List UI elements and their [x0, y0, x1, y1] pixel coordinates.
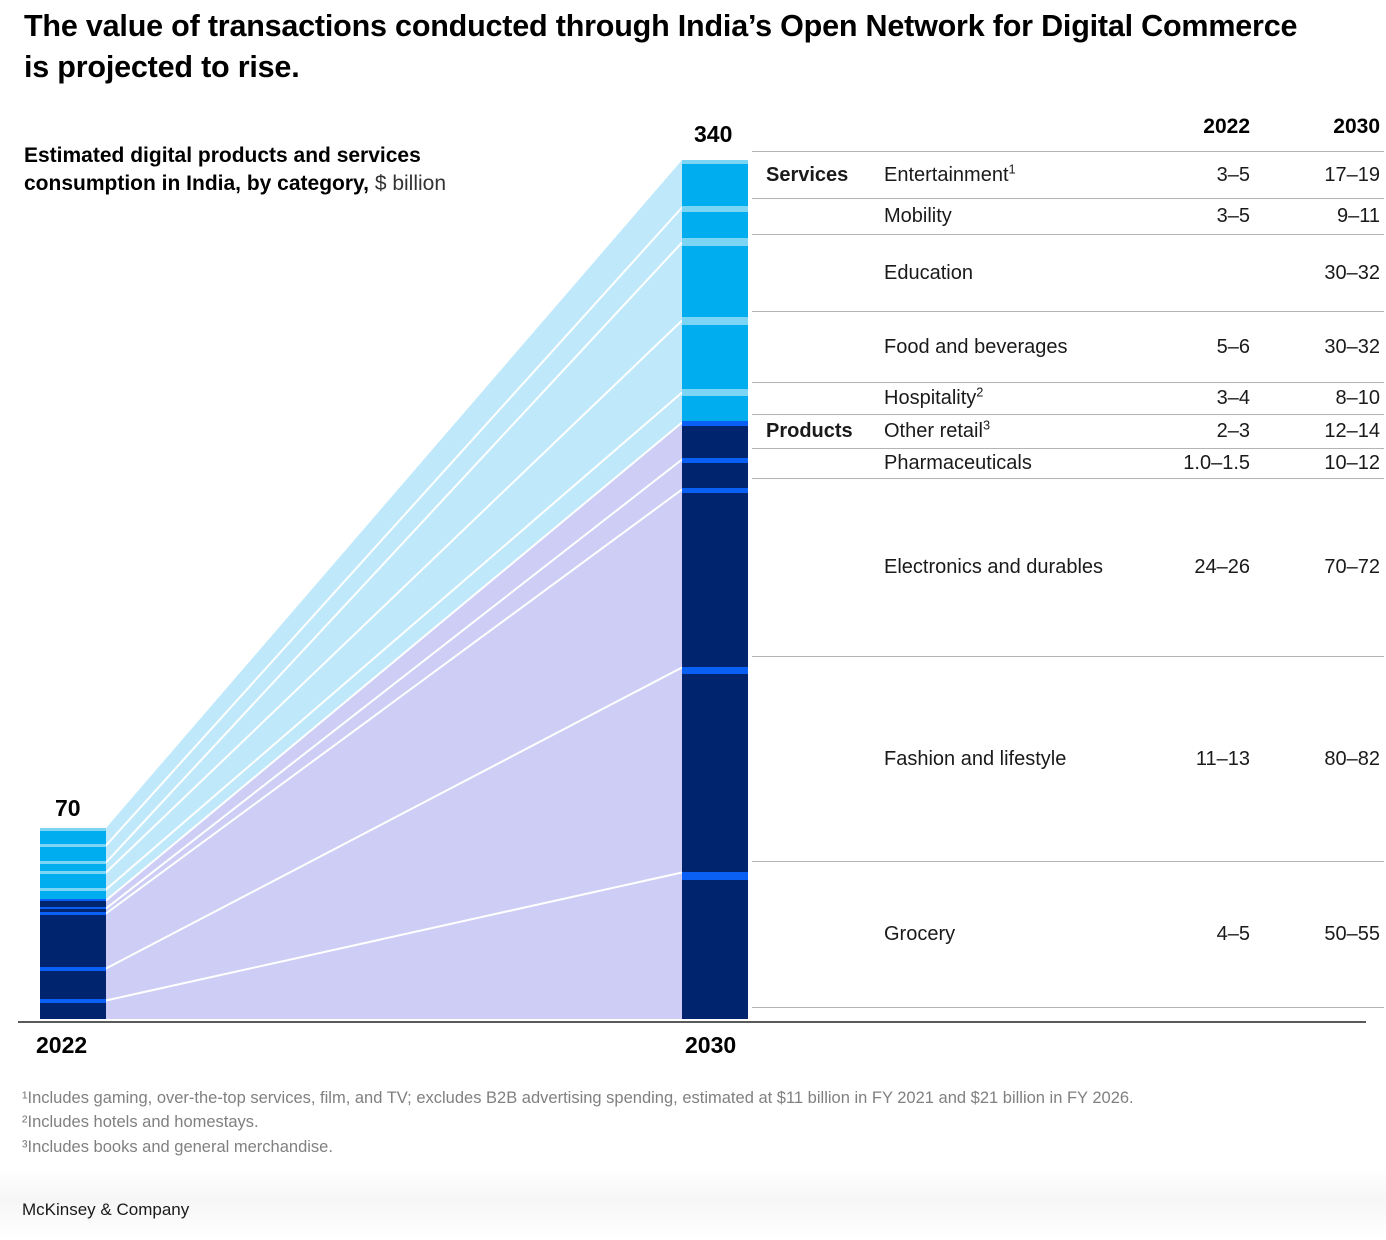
row-value-2030: 17–19	[1250, 152, 1384, 199]
row-value-2022: 4–5	[1120, 862, 1250, 1008]
bar-2022-grocery	[40, 1003, 106, 1019]
ribbon-education	[106, 243, 682, 872]
row-category-text: Hospitality	[884, 387, 976, 409]
category-table: 2022 2030 Services Entertainment1 3–5 17…	[752, 115, 1366, 1008]
row-group: Products	[752, 415, 884, 449]
table-row: Food and beverages 5–6 30–32	[752, 312, 1384, 383]
table-row: Products Other retail3 2–3 12–14	[752, 415, 1384, 449]
bottom-fade	[0, 1168, 1386, 1240]
bar-2030-hospitality	[682, 396, 748, 421]
row-group	[752, 235, 884, 312]
row-value-2022: 3–4	[1120, 383, 1250, 415]
row-category-text: Entertainment	[884, 164, 1009, 186]
chart-subtitle-unit: $ billion	[369, 172, 446, 195]
ribbon-fashion-and-lifestyle	[106, 668, 682, 1000]
header-group	[752, 115, 884, 152]
row-value-2022: 3–5	[1120, 152, 1250, 199]
total-value-2022: 70	[55, 795, 81, 822]
total-value-2030: 340	[694, 121, 732, 148]
brand-logo: McKinsey & Company	[22, 1200, 189, 1220]
table-row: Fashion and lifestyle 11–13 80–82	[752, 657, 1384, 862]
row-group	[752, 862, 884, 1008]
bar-2022-other-retail	[40, 901, 106, 907]
row-category-text: Pharmaceuticals	[884, 452, 1032, 474]
footnote-2: ²Includes hotels and homestays.	[22, 1110, 1362, 1134]
row-value-2022: 11–13	[1120, 657, 1250, 862]
row-value-2030: 70–72	[1250, 479, 1384, 657]
row-value-2022: 2–3	[1120, 415, 1250, 449]
bar-2022-electronics-durables	[40, 915, 106, 967]
row-category: Mobility	[884, 199, 1120, 235]
row-value-2022: 24–26	[1120, 479, 1250, 657]
row-category: Grocery	[884, 862, 1120, 1008]
bar-2030-pharmaceuticals	[682, 463, 748, 488]
row-group	[752, 449, 884, 479]
ribbon-pharmaceuticals	[106, 460, 682, 913]
footnote-3: ³Includes books and general merchandise.	[22, 1135, 1362, 1159]
row-category-text: Electronics and durables	[884, 556, 1103, 578]
table-row: Mobility 3–5 9–11	[752, 199, 1384, 235]
ribbon-group-services	[106, 160, 682, 900]
bar-2030-electronics-durables	[682, 493, 748, 667]
row-category: Fashion and lifestyle	[884, 657, 1120, 862]
bar-2030-fashion-lifestyle	[682, 674, 748, 872]
ribbon-entertainment	[106, 160, 682, 845]
row-category: Hospitality2	[884, 383, 1120, 415]
ribbon-electronics-and-durables	[106, 490, 682, 968]
bar-2030-grocery	[682, 880, 748, 1019]
row-category: Education	[884, 235, 1120, 312]
row-category-text: Other retail	[884, 420, 983, 442]
table-header-row: 2022 2030	[752, 115, 1384, 152]
row-value-2030: 12–14	[1250, 415, 1384, 449]
bar-2022-fashion-lifestyle	[40, 971, 106, 999]
bar-2030-entertainment	[682, 164, 748, 206]
row-value-2030: 80–82	[1250, 657, 1384, 862]
row-category-text: Mobility	[884, 205, 952, 227]
header-2030: 2030	[1250, 115, 1384, 152]
row-value-2030: 50–55	[1250, 862, 1384, 1008]
ribbon-mobility	[106, 208, 682, 862]
row-category-text: Fashion and lifestyle	[884, 748, 1066, 770]
row-group	[752, 383, 884, 415]
row-category: Entertainment1	[884, 152, 1120, 199]
row-value-2022	[1120, 235, 1250, 312]
bar-2030-education	[682, 246, 748, 317]
table-row: Education 30–32	[752, 235, 1384, 312]
ribbon-other-retail	[106, 423, 682, 908]
row-category: Electronics and durables	[884, 479, 1120, 657]
row-category-text: Food and beverages	[884, 336, 1067, 358]
row-value-2030: 30–32	[1250, 235, 1384, 312]
bar-2022-hospitality	[40, 891, 106, 899]
footnotes: ¹Includes gaming, over-the-top services,…	[22, 1086, 1362, 1159]
footnote-ref: 1	[1009, 161, 1016, 176]
table-row: Pharmaceuticals 1.0–1.5 10–12	[752, 449, 1384, 479]
row-group	[752, 312, 884, 383]
table-row: Hospitality2 3–4 8–10	[752, 383, 1384, 415]
table-row: Services Entertainment1 3–5 17–19	[752, 152, 1384, 199]
axis-baseline	[18, 1021, 1366, 1023]
row-value-2022: 1.0–1.5	[1120, 449, 1250, 479]
axis-label-2022: 2022	[36, 1032, 87, 1059]
ribbon-hospitality	[106, 393, 682, 900]
row-value-2022: 5–6	[1120, 312, 1250, 383]
chart-subtitle-bold: Estimated digital products and services …	[24, 144, 421, 195]
ribbon-grocery	[106, 873, 682, 1019]
header-2022: 2022	[1120, 115, 1250, 152]
bar-2030-other-retail	[682, 426, 748, 458]
table-row: Electronics and durables 24–26 70–72	[752, 479, 1384, 657]
page-title: The value of transactions conducted thro…	[24, 6, 1314, 88]
row-group: Services	[752, 152, 884, 199]
row-value-2030: 9–11	[1250, 199, 1384, 235]
bar-2022-food-beverages	[40, 874, 106, 888]
bar-2022	[40, 828, 106, 1019]
bar-2030-mobility	[682, 212, 748, 238]
row-value-2030: 8–10	[1250, 383, 1384, 415]
row-value-2022: 3–5	[1120, 199, 1250, 235]
header-category	[884, 115, 1120, 152]
row-group	[752, 199, 884, 235]
bar-2030	[682, 160, 748, 1019]
row-value-2030: 30–32	[1250, 312, 1384, 383]
bar-2022-mobility	[40, 847, 106, 861]
axis-label-2030: 2030	[685, 1032, 736, 1059]
ribbon-food-and-beverages	[106, 321, 682, 889]
bar-2022-education	[40, 864, 106, 871]
table-row: Grocery 4–5 50–55	[752, 862, 1384, 1008]
ribbon-group-products	[106, 423, 682, 1019]
footnote-ref: 3	[983, 417, 990, 432]
row-category: Other retail3	[884, 415, 1120, 449]
row-group	[752, 657, 884, 862]
row-value-2030: 10–12	[1250, 449, 1384, 479]
footnote-1: ¹Includes gaming, over-the-top services,…	[22, 1086, 1362, 1110]
bar-2022-pharmaceuticals	[40, 909, 106, 912]
bar-2022-entertainment	[40, 831, 106, 844]
row-category: Food and beverages	[884, 312, 1120, 383]
chart-subtitle: Estimated digital products and services …	[24, 142, 454, 199]
row-category-text: Grocery	[884, 923, 955, 945]
row-category-text: Education	[884, 262, 973, 284]
row-category: Pharmaceuticals	[884, 449, 1120, 479]
ribbon-separators	[106, 208, 682, 1001]
footnote-ref: 2	[976, 384, 983, 399]
bar-2030-food-beverages	[682, 325, 748, 389]
row-group	[752, 479, 884, 657]
